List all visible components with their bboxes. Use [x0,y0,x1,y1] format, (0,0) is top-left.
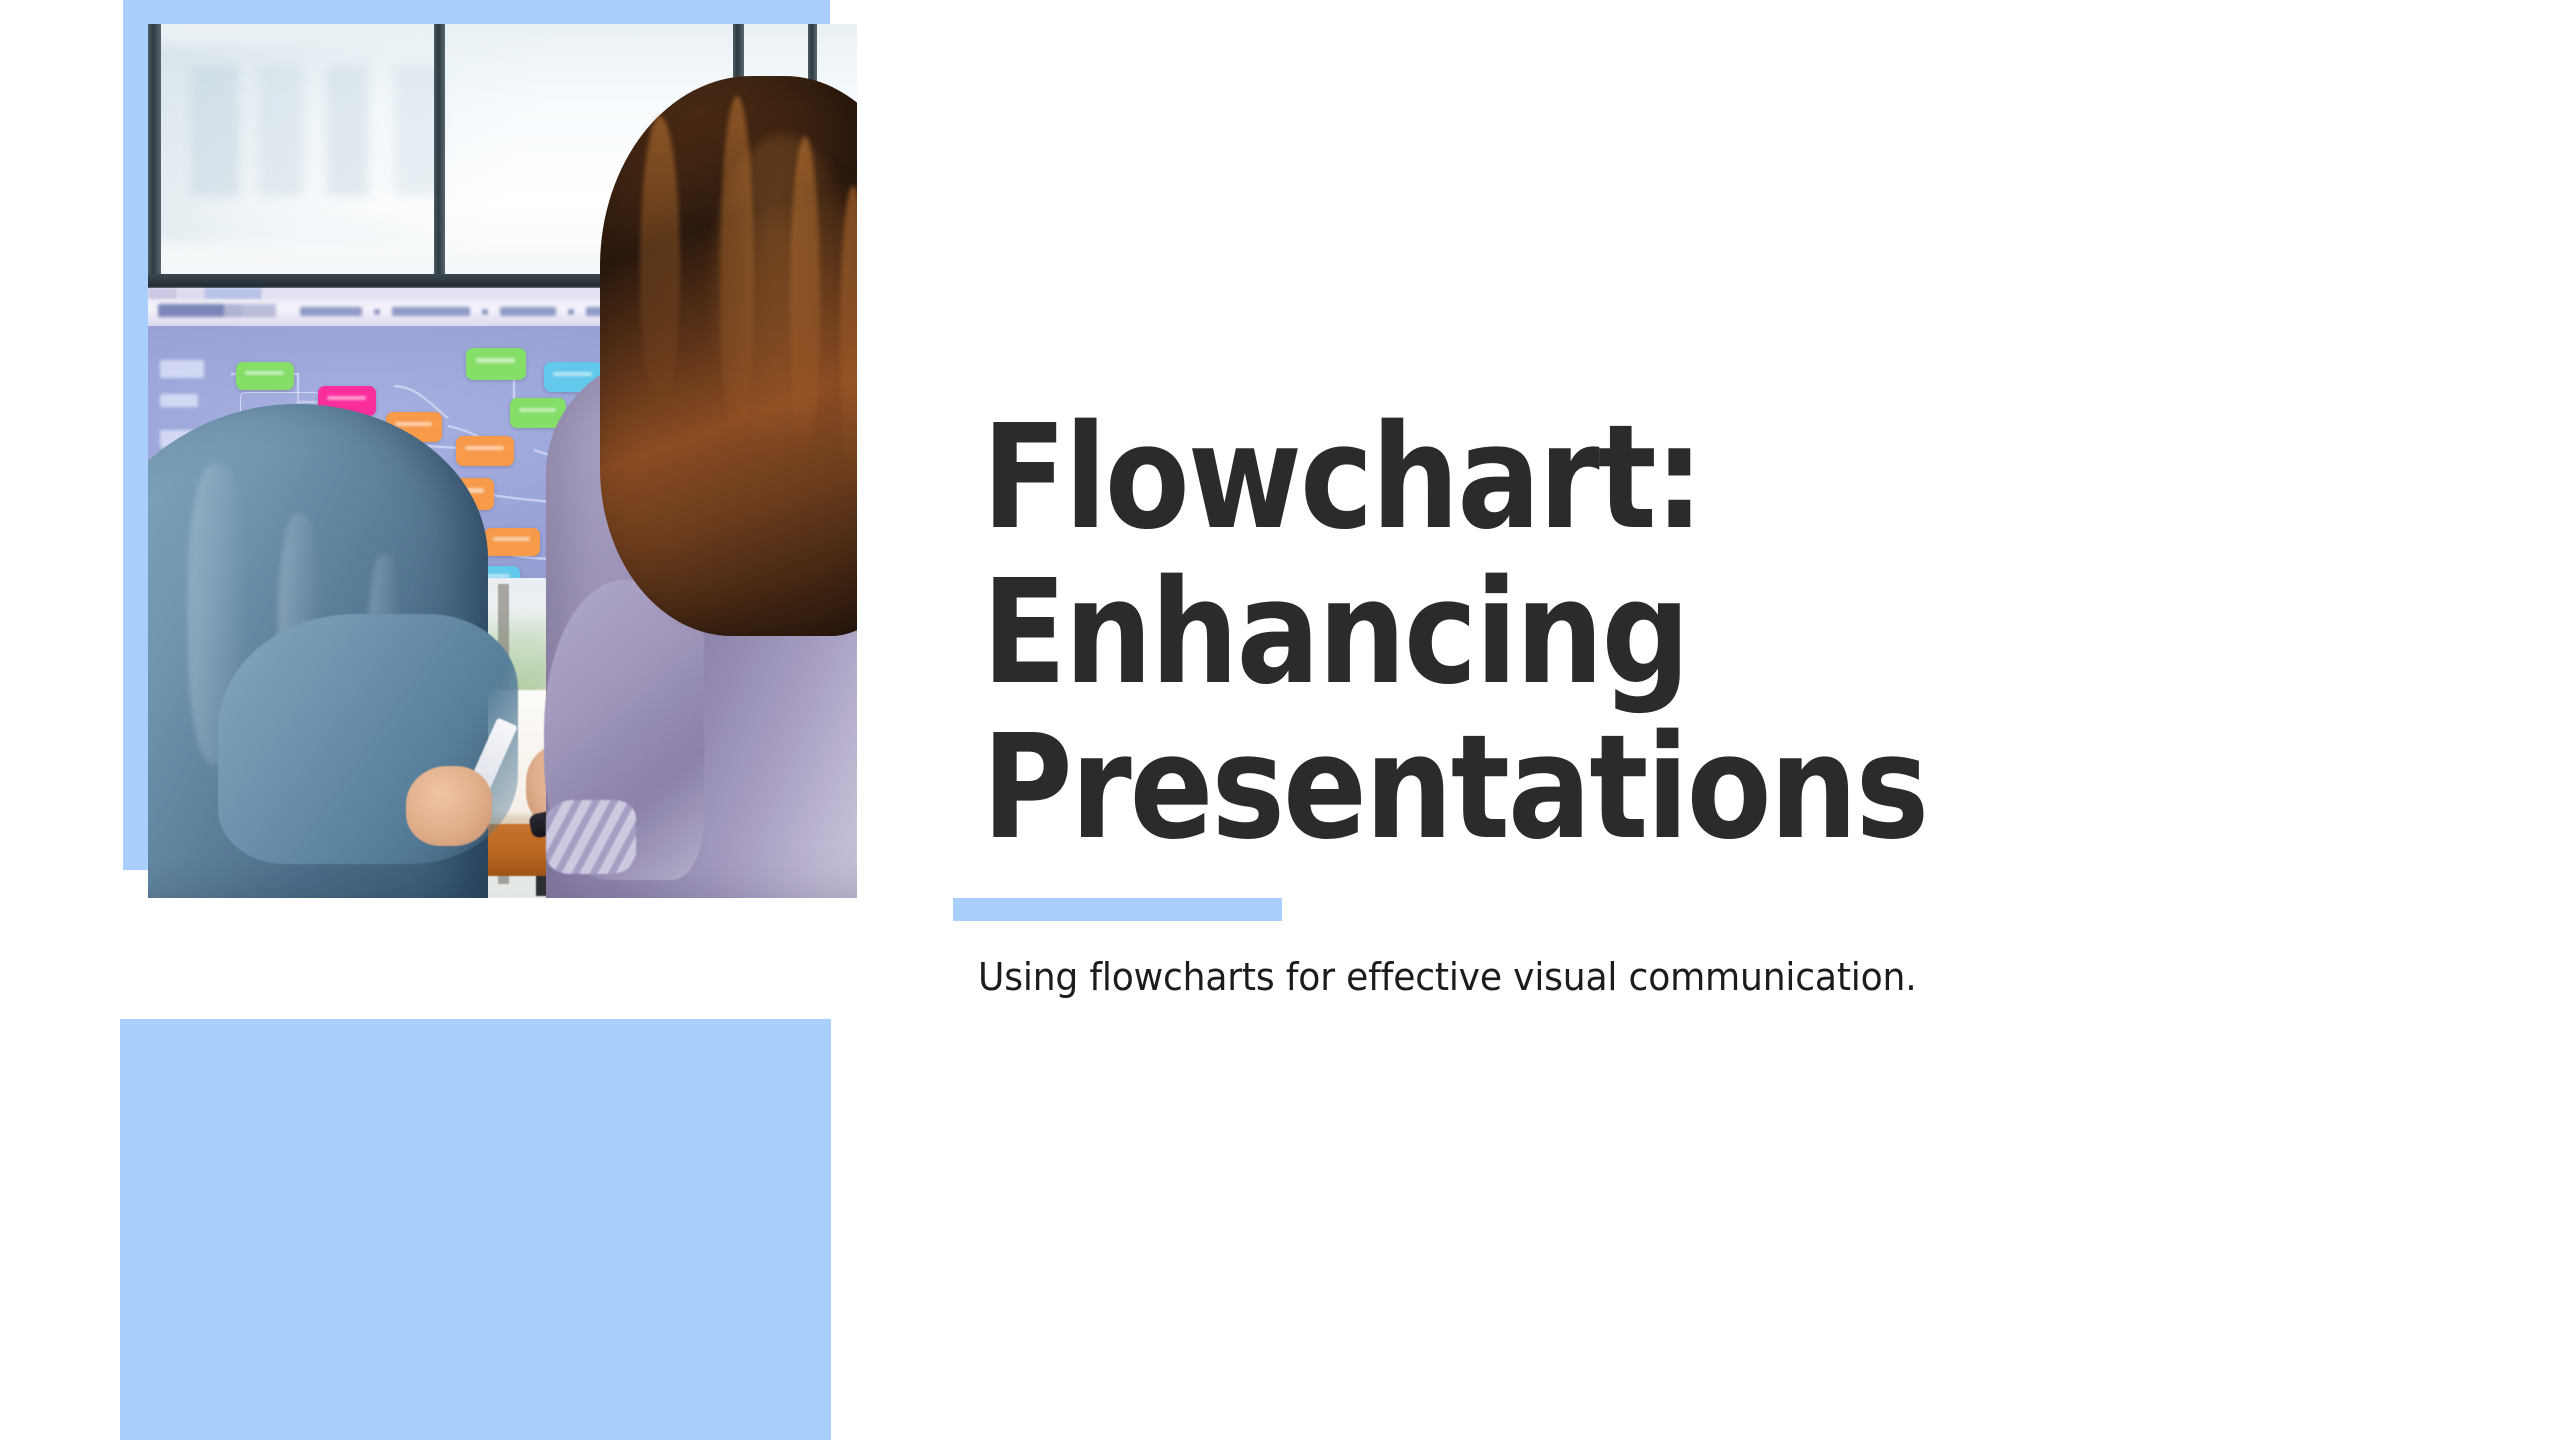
woman-cuff [546,800,636,874]
hero-photo [148,24,857,898]
page-title-line: Presentations [982,710,2014,865]
flowchart-label [160,394,198,407]
toolbar-separator-icon [482,309,488,315]
title-accent-bar [953,898,1282,921]
page-title-line: Flowchart: [982,400,2014,555]
hair-highlight [708,134,857,464]
decorative-blue-block-bottom [120,1019,831,1440]
toolbar-separator-icon [568,309,574,315]
toolbar-item [500,307,556,316]
slide-canvas: Flowchart:EnhancingPresentations Using f… [0,0,2560,1440]
page-subtitle: Using flowcharts for effective visual co… [978,954,1917,1000]
hair-strand [640,116,680,416]
toolbar-separator-icon [374,309,380,315]
flowchart-node [456,436,514,466]
window-mullion [148,24,161,286]
page-title: Flowchart:EnhancingPresentations [982,400,2014,865]
flowchart-node [236,362,294,390]
hand [406,766,492,846]
flowchart-node [466,348,526,380]
app-title-blur [158,304,276,317]
page-title-line: Enhancing [982,555,2014,710]
flowchart-node [484,528,540,556]
photo-content [148,24,857,898]
toolbar-item [300,307,362,316]
window-building-blur [191,66,531,196]
flowchart-label [160,360,204,378]
window-mullion [434,24,445,286]
toolbar-item [392,307,470,316]
